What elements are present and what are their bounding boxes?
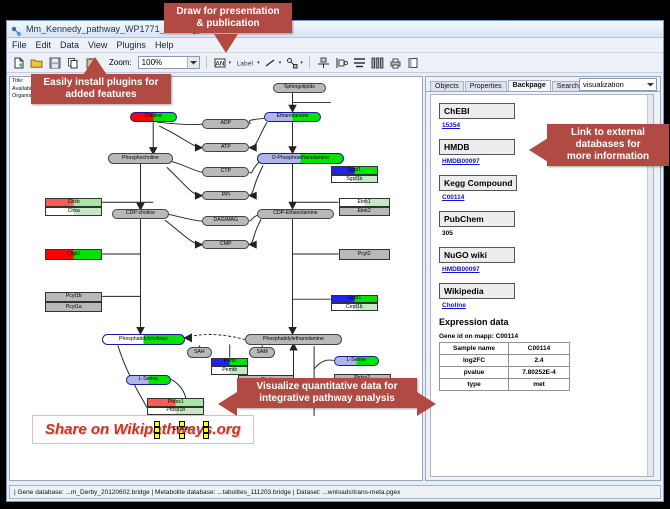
zoom-combobox[interactable]: 100% <box>138 56 200 69</box>
table-row: Sample nameC00114 <box>440 343 570 355</box>
metabolite-node[interactable]: Phosphocholine <box>108 153 173 163</box>
gene-node[interactable]: Pcyt1a <box>45 302 102 312</box>
resize-handle[interactable] <box>179 433 185 439</box>
table-row: log2FC2.4 <box>440 355 570 367</box>
callout-plugins-line2: added features <box>37 89 165 101</box>
metabolite-node[interactable]: Phosphatidylethanolamine <box>245 334 341 345</box>
callout-draw-line2: & publication <box>170 18 286 30</box>
pathvisio-icon <box>11 24 22 35</box>
resize-handle[interactable] <box>179 421 185 427</box>
chevron-down-icon[interactable] <box>187 57 199 68</box>
svg-text:AN: AN <box>216 59 225 67</box>
callout-plugins-arrow <box>83 57 107 75</box>
database-link[interactable]: Choline <box>442 302 645 309</box>
expression-value: met <box>509 379 570 391</box>
metabolite-node[interactable]: CTP <box>202 167 249 176</box>
database-header: Kegg Compound <box>439 175 517 191</box>
callout-visualize-arrow-left <box>218 392 237 416</box>
gene-node[interactable]: Chpt1 <box>45 249 102 259</box>
chevron-down-icon[interactable] <box>645 79 656 90</box>
print-icon[interactable] <box>388 55 403 70</box>
database-header: PubChem <box>439 211 515 227</box>
gene-label: Chpt1 <box>67 252 81 257</box>
metabolite-node[interactable]: L-Serine <box>334 356 379 366</box>
metabolite-node[interactable]: O-Phosphoethanolamine <box>257 153 343 163</box>
metabolite-node[interactable]: CDP-choline <box>112 209 169 219</box>
metabolite-label: Sphingolipids <box>284 85 315 90</box>
metabolite-label: ADP <box>220 121 231 126</box>
metabolite-node[interactable]: PPi <box>202 191 249 200</box>
metabolite-node[interactable]: CDP-Ethanolamine <box>257 209 334 219</box>
copy-icon[interactable] <box>65 55 80 70</box>
menu-item-data[interactable]: Data <box>60 40 79 50</box>
gene-label: Etnk2 <box>357 209 370 214</box>
save-icon[interactable] <box>47 55 62 70</box>
database-link[interactable]: C00114 <box>442 194 645 201</box>
chevron-down-icon[interactable]: ▾ <box>257 60 260 66</box>
align-center-icon[interactable] <box>316 55 331 70</box>
metabolite-node[interactable]: Phosphatidylcholines <box>102 334 184 345</box>
metabolite-label: SAM <box>256 350 267 355</box>
database-header: NuGO wiki <box>439 247 515 263</box>
gene-label: Etnk1 <box>357 200 370 205</box>
callout-draw-line1: Draw for presentation <box>170 6 286 18</box>
expression-key: type <box>440 379 509 391</box>
gene-node[interactable]: Pcyt1b <box>45 292 102 302</box>
svg-text:Label: Label <box>237 60 254 67</box>
metabolite-label: DAG/MAG <box>214 218 239 223</box>
status-bar: | Gene database: ...m_Derby_20120602.bri… <box>9 485 661 499</box>
metabolite-label: L-Serine <box>139 377 159 382</box>
metabolite-label: CDP-Ethanolamine <box>273 211 317 216</box>
callout-links-line1: Link to external <box>553 127 663 139</box>
expression-key: pvalue <box>440 367 509 379</box>
callout-draw: Draw for presentation & publication <box>164 3 292 33</box>
toolbar-separator <box>309 56 310 69</box>
open-folder-icon[interactable] <box>29 55 44 70</box>
gene-node[interactable]: Pemt <box>211 358 248 366</box>
line-group: ▾ <box>263 55 282 70</box>
new-file-icon[interactable] <box>11 55 26 70</box>
metabolite-label: Ethanolamine <box>277 114 309 119</box>
database-value: 305 <box>442 230 645 237</box>
metabolite-node[interactable]: ADP <box>202 119 249 128</box>
callout-links: Link to external databases for more info… <box>547 124 669 166</box>
text-label-icon[interactable]: AN <box>213 55 228 70</box>
metabolite-label: L-Serine <box>346 358 366 363</box>
shape-icon[interactable] <box>284 55 299 70</box>
gene-node[interactable]: Ptdss1 <box>147 398 204 406</box>
align-left-icon[interactable] <box>334 55 349 70</box>
chevron-down-icon[interactable]: ▾ <box>279 60 282 66</box>
watermark: Share on Wikipathways.org <box>32 415 254 444</box>
visualization-value: visualization <box>580 80 645 89</box>
resize-handle[interactable] <box>203 433 209 439</box>
metabolite-label: CDP-choline <box>126 211 155 216</box>
expression-value: 2.4 <box>509 355 570 367</box>
gene-label: Ptdss1 <box>168 400 184 405</box>
stack-icon[interactable] <box>352 55 367 70</box>
metabolite-label: SAH <box>194 350 205 355</box>
metabolite-node[interactable]: ATP <box>202 143 249 152</box>
menu-item-edit[interactable]: Edit <box>36 40 52 50</box>
label-icon[interactable]: Label <box>234 55 256 70</box>
gene-label: Ptdss1b <box>166 408 185 413</box>
gene-label: Pcyt2 <box>358 252 371 257</box>
gene-node[interactable]: Chkb <box>45 198 102 207</box>
callout-links-line3: more information <box>553 151 663 163</box>
gene-node[interactable]: Etnk1 <box>339 198 390 207</box>
toolbar-separator <box>206 56 207 69</box>
database-header: HMDB <box>439 139 515 155</box>
shape-group: ▾ <box>284 55 303 70</box>
metabolite-label: ATP <box>221 145 231 150</box>
menu-item-help[interactable]: Help <box>155 40 174 50</box>
tab-properties[interactable]: Properties <box>465 81 507 91</box>
metabolite-node[interactable]: SAH <box>187 347 213 357</box>
metabolite-node[interactable]: CMP <box>202 240 249 249</box>
menu-bar: File Edit Data View Plugins Help <box>7 38 663 53</box>
chevron-down-icon[interactable]: ▾ <box>229 60 232 66</box>
expression-value: C00114 <box>509 343 570 355</box>
menu-item-file[interactable]: File <box>12 40 27 50</box>
database-header: Wikipedia <box>439 283 515 299</box>
metabolite-label: Choline <box>144 114 162 119</box>
gene-label: Pcyt1a <box>66 305 82 310</box>
callout-visualize-line1: Visualize quantitative data for <box>243 381 411 393</box>
callout-visualize: Visualize quantitative data for integrat… <box>237 378 417 408</box>
expression-value: 7.80252E-4 <box>509 367 570 379</box>
metabolite-label: CTP <box>221 169 231 174</box>
gene-node[interactable]: Cept1b <box>331 303 378 311</box>
gene-label: Chkb <box>68 200 80 205</box>
expression-heading: Expression data <box>439 317 645 327</box>
expression-table: Sample nameC00114log2FC2.4pvalue7.80252E… <box>439 342 570 391</box>
text-label-group: AN ▾ <box>213 55 232 70</box>
database-link[interactable]: HMDB00097 <box>442 266 645 273</box>
expression-key: log2FC <box>440 355 509 367</box>
gene-node[interactable]: Pcyt2 <box>339 249 390 259</box>
gene-label: Pemt <box>224 359 236 364</box>
metabolite-label: PPi <box>222 193 230 198</box>
menu-item-view[interactable]: View <box>88 40 107 50</box>
callout-links-arrow <box>529 138 548 162</box>
metabolite-label: CMP <box>220 242 232 247</box>
pathvisio-window: Mm_Kennedy_pathway_WP1771_45176.gpml Fil… <box>6 20 664 502</box>
tab-backpage[interactable]: Backpage <box>508 80 551 91</box>
metabolite-label: Phosphatidylcholines <box>119 337 168 342</box>
metabolite-label: Phosphocholine <box>122 156 159 161</box>
tab-objects[interactable]: Objects <box>430 81 464 91</box>
distribute-icon[interactable] <box>370 55 385 70</box>
label-group: Label ▾ <box>234 55 260 70</box>
gene-label: Cept1 <box>347 296 361 301</box>
pathway-canvas[interactable]: Title: Availability: Organism: <box>9 76 423 481</box>
gene-id-label: Gene id on mapp: C00114 <box>439 333 645 340</box>
metabolite-node[interactable]: SAM <box>249 347 275 357</box>
zoom-value: 100% <box>139 58 187 67</box>
gene-label: Cept1b <box>346 305 363 310</box>
metabolite-node[interactable]: L-Serine <box>126 375 171 385</box>
callout-visualize-arrow-right <box>417 392 436 416</box>
title-bar: Mm_Kennedy_pathway_WP1771_45176.gpml <box>7 21 663 38</box>
gene-label: Sgpl1 <box>348 168 361 173</box>
chevron-down-icon[interactable]: ▾ <box>300 60 303 66</box>
metabolite-node[interactable]: Ethanolamine <box>264 112 321 122</box>
gene-node[interactable]: Sgpl1 <box>331 166 378 174</box>
callout-plugins-line1: Easily install plugins for <box>37 77 165 89</box>
gene-node[interactable]: Ptdss1b <box>147 407 204 415</box>
menu-item-plugins[interactable]: Plugins <box>116 40 146 50</box>
visualization-combobox[interactable]: visualization <box>579 78 657 91</box>
expression-key: Sample name <box>440 343 509 355</box>
gene-label: Pcyt1b <box>66 294 82 299</box>
table-row: typemet <box>440 379 570 391</box>
gene-node[interactable]: Sgpl1b <box>331 175 378 183</box>
callout-plugins: Easily install plugins for added feature… <box>31 74 171 104</box>
gene-node[interactable]: Cept1 <box>331 295 378 303</box>
gene-node[interactable]: Pemtb <box>211 366 248 374</box>
gene-label: Sgpl1b <box>346 177 362 182</box>
resize-handle[interactable] <box>154 433 160 439</box>
gene-node[interactable]: Etnk2 <box>339 207 390 216</box>
callout-links-line2: databases for <box>553 139 663 151</box>
metabolite-label: O-Phosphoethanolamine <box>272 156 329 161</box>
gene-node[interactable]: Chka <box>45 207 102 216</box>
line-icon[interactable] <box>263 55 278 70</box>
metabolite-node[interactable]: Choline <box>130 112 177 122</box>
callout-draw-arrow <box>214 34 238 53</box>
page-icon[interactable] <box>406 55 421 70</box>
metabolite-node[interactable]: DAG/MAG <box>202 216 249 225</box>
callout-visualize-line2: integrative pathway analysis <box>243 393 411 405</box>
metabolite-label: Phosphatidylethanolamine <box>263 337 324 342</box>
gene-label: Chka <box>68 209 80 214</box>
metabolite-node[interactable]: Sphingolipids <box>273 83 326 93</box>
zoom-label: Zoom: <box>109 58 132 67</box>
status-text: | Gene database: ...m_Derby_20120602.bri… <box>14 489 400 496</box>
gene-label: Pemtb <box>222 368 237 373</box>
database-header: ChEBI <box>439 103 515 119</box>
table-row: pvalue7.80252E-4 <box>440 367 570 379</box>
